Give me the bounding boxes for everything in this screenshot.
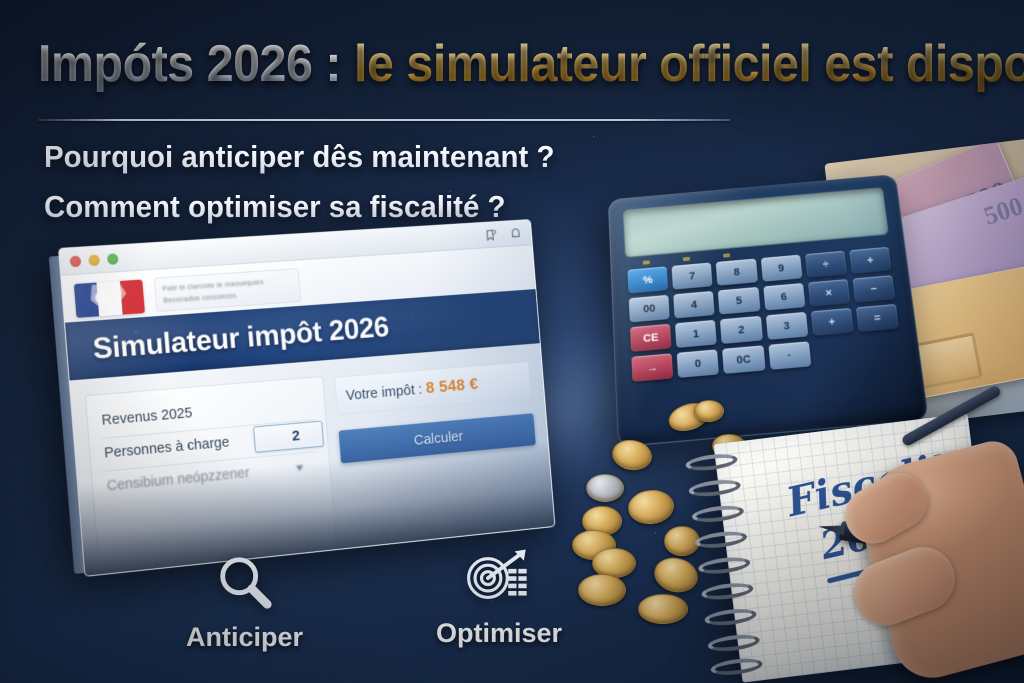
vignette-overlay <box>0 0 1024 683</box>
banner-canvas: Impóts 2026 : le simulateur officiel est… <box>0 0 1024 683</box>
